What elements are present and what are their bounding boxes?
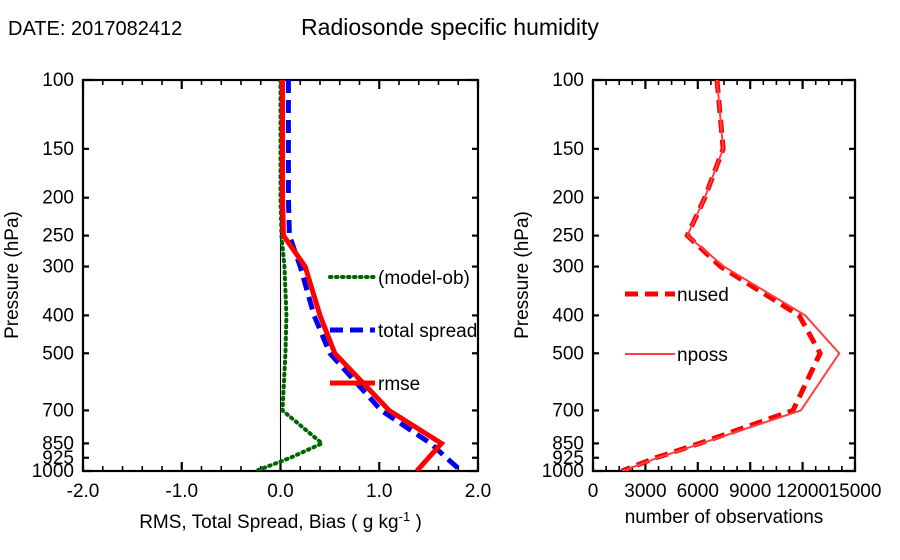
y-tick-label: 250 <box>42 226 74 247</box>
y-tick-label: 1000 <box>32 461 74 482</box>
x-tick-label: 0 <box>588 481 599 502</box>
y-tick-label: 300 <box>552 257 584 278</box>
y-tick-label: 300 <box>42 257 74 278</box>
x-tick-label: 9000 <box>729 481 771 502</box>
y-tick-label: 250 <box>552 226 584 247</box>
x-axis-title: RMS, Total Spread, Bias ( g kg-1 ) <box>139 509 422 533</box>
series-bias <box>256 80 322 471</box>
y-axis-title: Pressure (hPa) <box>512 211 533 339</box>
right-panel-data <box>622 80 839 471</box>
y-tick-label: 150 <box>42 139 74 160</box>
y-tick-label: 150 <box>552 139 584 160</box>
y-tick-label: 100 <box>42 70 74 91</box>
y-tick-label: 200 <box>552 188 584 209</box>
x-tick-label: 2.0 <box>465 481 491 502</box>
x-tick-label: 12000 <box>776 481 829 502</box>
y-tick-label: 1000 <box>542 461 584 482</box>
y-tick-label: 100 <box>552 70 584 91</box>
y-tick-label: 200 <box>42 188 74 209</box>
y-tick-label: 500 <box>552 343 584 364</box>
legend-label-rmse: rmse <box>378 374 420 395</box>
left-panel: -2.0-1.00.01.02.0RMS, Total Spread, Bias… <box>2 70 491 533</box>
x-tick-label: 3000 <box>624 481 666 502</box>
y-tick-label: 400 <box>552 305 584 326</box>
x-tick-label: 15000 <box>829 481 882 502</box>
right-panel-frame <box>593 80 855 471</box>
legend-label-nposs: nposs <box>677 345 728 366</box>
x-tick-label: 6000 <box>677 481 719 502</box>
y-tick-label: 700 <box>42 400 74 421</box>
y-tick-label: 500 <box>42 343 74 364</box>
figure-canvas: -2.0-1.00.01.02.0RMS, Total Spread, Bias… <box>0 0 900 560</box>
legend-label-total-spread: total spread <box>378 321 477 342</box>
legend-label-bias: (model-ob) <box>378 268 470 289</box>
y-tick-label: 700 <box>552 400 584 421</box>
legend-label-nused: nused <box>677 285 729 306</box>
x-axis-title: number of observations <box>625 507 824 528</box>
x-tick-label: 0.0 <box>267 481 293 502</box>
series-nused <box>622 80 820 471</box>
x-tick-label: 1.0 <box>366 481 392 502</box>
x-tick-label: -1.0 <box>165 481 198 502</box>
y-tick-label: 400 <box>42 305 74 326</box>
y-axis-title: Pressure (hPa) <box>2 211 23 339</box>
x-tick-label: -2.0 <box>67 481 100 502</box>
